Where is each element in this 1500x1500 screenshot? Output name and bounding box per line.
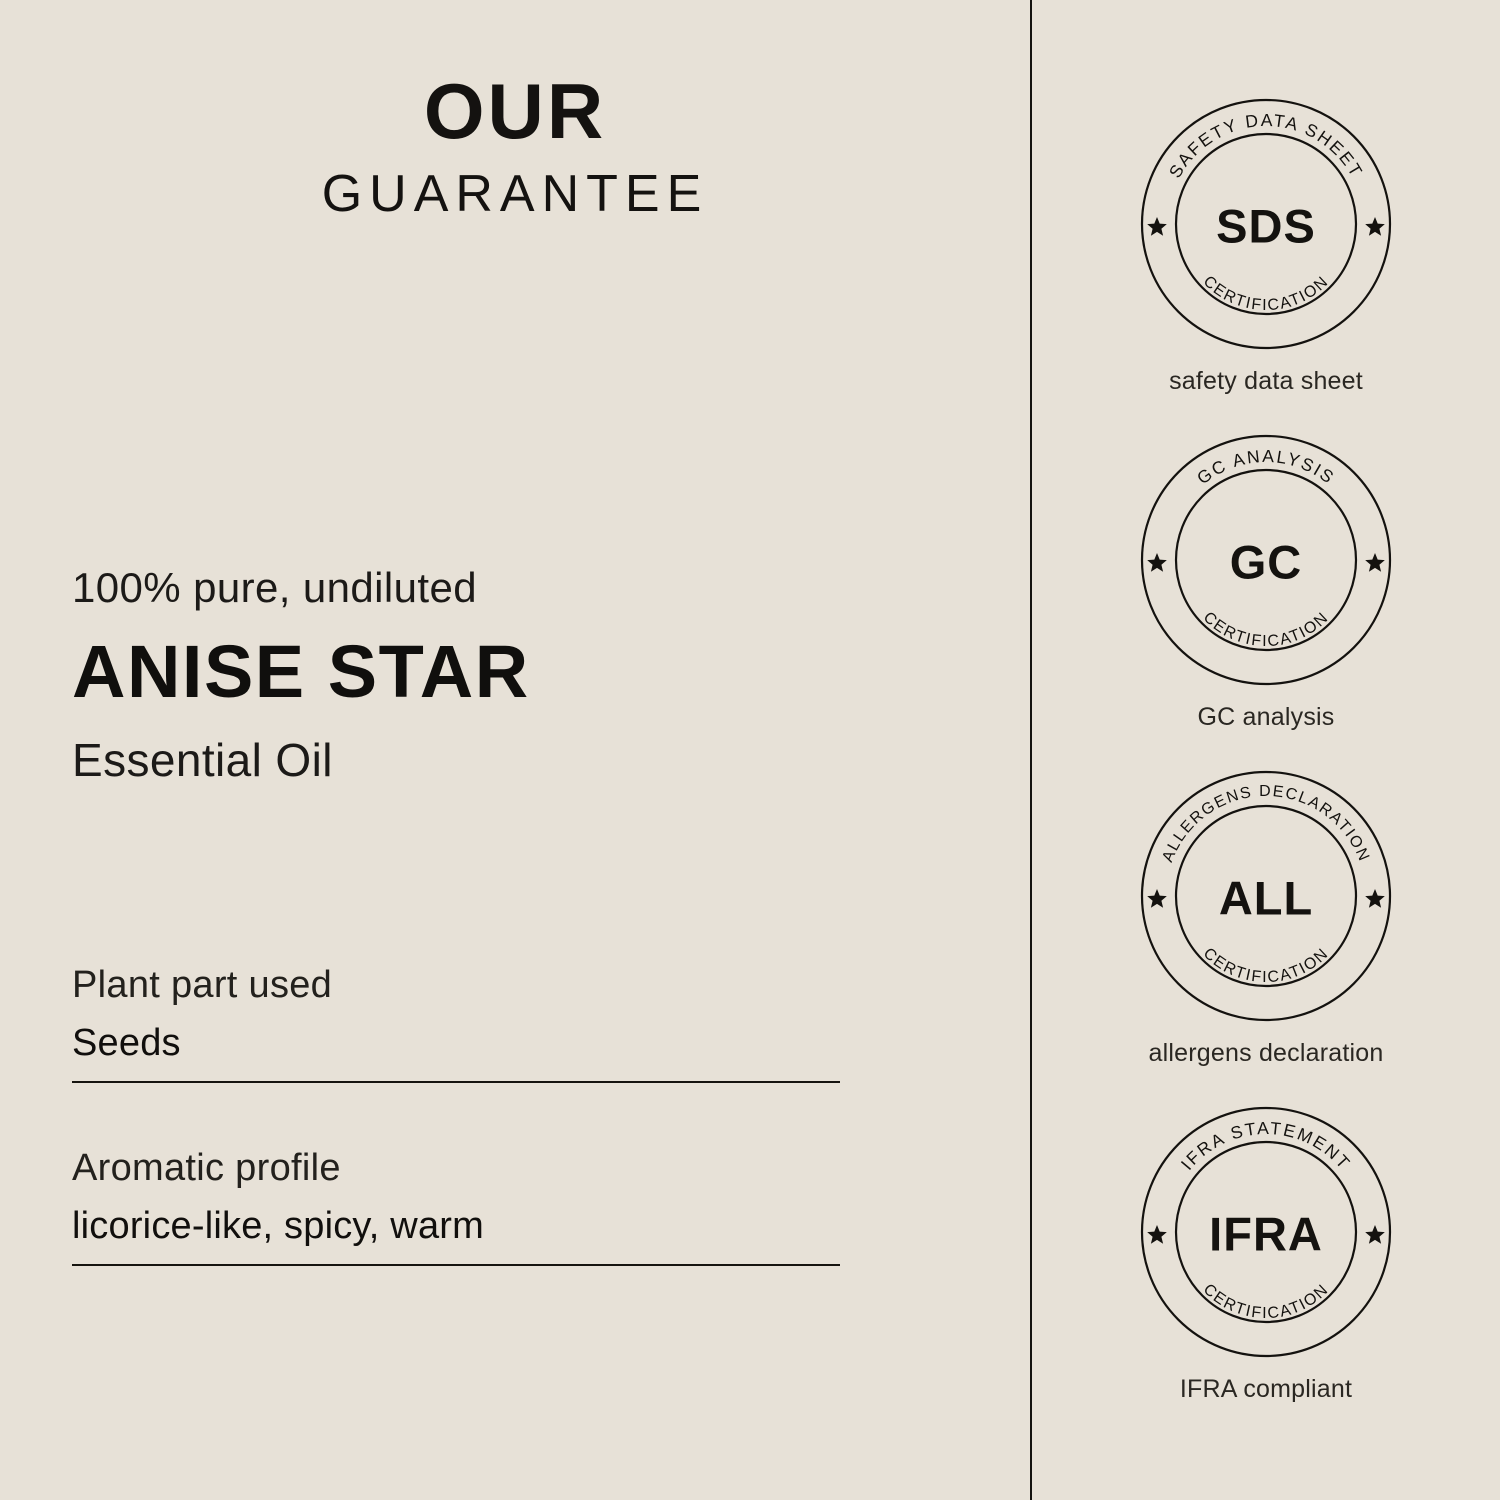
star-icon-left [1147, 217, 1167, 236]
seal-icon: IFRA STATEMENT CERTIFICATION IFRA [1140, 1106, 1392, 1358]
star-icon-right [1365, 889, 1385, 908]
purity-statement: 100% pure, undiluted [72, 565, 972, 611]
badge-caption: IFRA compliant [1180, 1374, 1352, 1404]
spec-value: licorice-like, spicy, warm [72, 1203, 840, 1251]
seal-bottom-arc-text: CERTIFICATION [1200, 945, 1332, 986]
seal-top-arc-text: SAFETY DATA SHEET [1165, 110, 1367, 181]
star-icon-right [1365, 217, 1385, 236]
seal-abbreviation: IFRA [1209, 1208, 1323, 1261]
seal-icon: GC ANALYSIS CERTIFICATION GC [1140, 434, 1392, 686]
star-icon-right [1365, 1225, 1385, 1244]
star-icon-right [1365, 553, 1385, 572]
page-title: OUR GUARANTEE [0, 72, 1030, 220]
page-title-line-1: OUR [0, 72, 1030, 150]
spec-label: Plant part used [72, 962, 840, 1010]
product-type: Essential Oil [72, 735, 972, 786]
seal-bottom-arc-text: CERTIFICATION [1200, 609, 1332, 650]
seal-icon: SAFETY DATA SHEET CERTIFICATION SDS [1140, 98, 1392, 350]
seal-abbreviation: SDS [1216, 200, 1316, 253]
spec-label: Aromatic profile [72, 1145, 840, 1193]
spec-list: Plant part used Seeds Aromatic profile l… [72, 962, 840, 1266]
page-title-line-2: GUARANTEE [0, 168, 1030, 220]
star-icon-left [1147, 1225, 1167, 1244]
seal-bottom-arc-text: CERTIFICATION [1200, 1281, 1332, 1322]
certification-badges-panel: SAFETY DATA SHEET CERTIFICATION SDS safe… [1032, 0, 1500, 1500]
badge-caption: safety data sheet [1169, 366, 1363, 396]
spec-row-aromatic-profile: Aromatic profile licorice-like, spicy, w… [72, 1145, 840, 1266]
seal-icon: ALLERGENS DECLARATION CERTIFICATION ALL [1140, 770, 1392, 1022]
left-content-panel: OUR GUARANTEE 100% pure, undiluted ANISE… [0, 0, 1030, 1500]
seal-abbreviation: GC [1230, 536, 1303, 589]
seal-abbreviation: ALL [1219, 872, 1313, 925]
star-icon-left [1147, 553, 1167, 572]
guarantee-panel: OUR GUARANTEE 100% pure, undiluted ANISE… [0, 0, 1500, 1500]
seal-bottom-arc-text: CERTIFICATION [1200, 273, 1332, 314]
certification-badge-gc: GC ANALYSIS CERTIFICATION GC GC analysis [1032, 434, 1500, 732]
product-name: ANISE STAR [72, 633, 972, 711]
badge-caption: allergens declaration [1149, 1038, 1384, 1068]
certification-badge-allergens: ALLERGENS DECLARATION CERTIFICATION ALL … [1032, 770, 1500, 1068]
certification-badge-ifra: IFRA STATEMENT CERTIFICATION IFRA IFRA c… [1032, 1106, 1500, 1404]
spec-row-plant-part: Plant part used Seeds [72, 962, 840, 1083]
star-icon-left [1147, 889, 1167, 908]
badge-caption: GC analysis [1198, 702, 1335, 732]
seal-top-arc-text: GC ANALYSIS [1193, 446, 1339, 488]
spec-value: Seeds [72, 1020, 840, 1068]
product-identity: 100% pure, undiluted ANISE STAR Essentia… [72, 565, 972, 785]
seal-top-arc-text: ALLERGENS DECLARATION [1159, 783, 1372, 865]
certification-badge-sds: SAFETY DATA SHEET CERTIFICATION SDS safe… [1032, 98, 1500, 396]
